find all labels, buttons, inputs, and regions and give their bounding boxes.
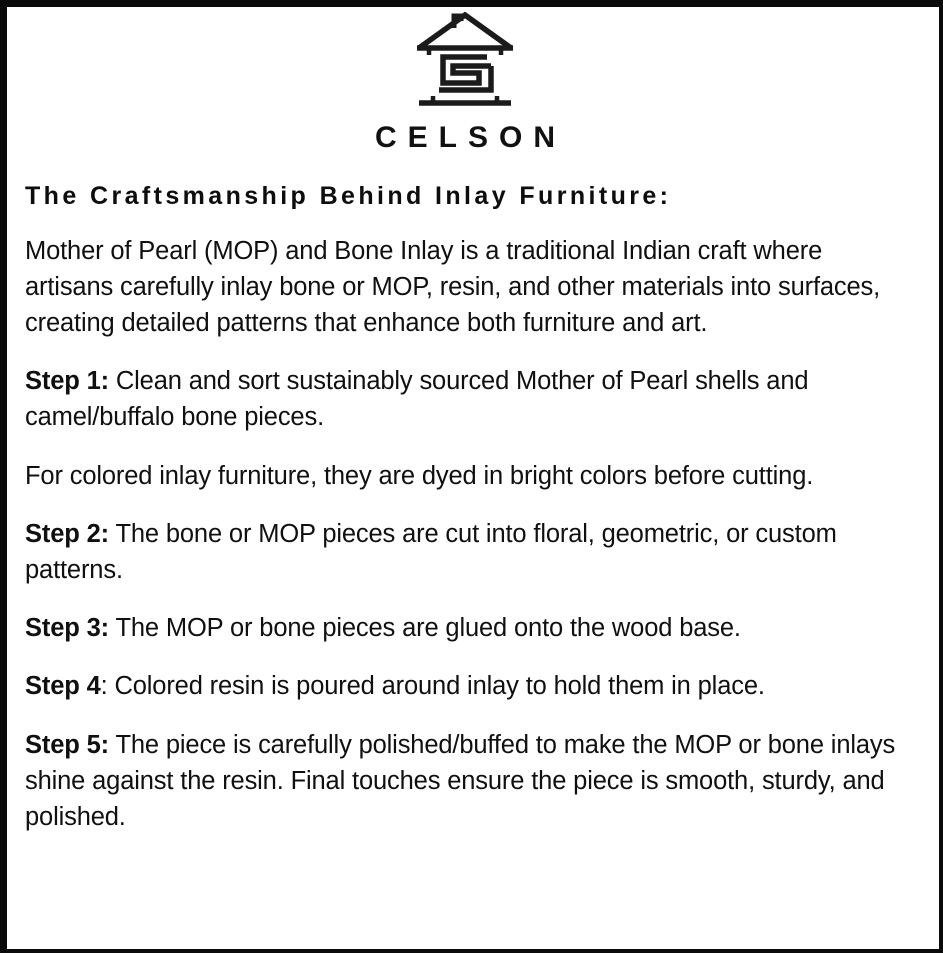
- paragraph-step-1: Step 1: Clean and sort sustainably sourc…: [25, 363, 913, 435]
- paragraph-text: The MOP or bone pieces are glued onto th…: [109, 614, 741, 642]
- paragraph-text: Colored resin is poured around inlay to …: [108, 672, 765, 700]
- brand-block: CELSON: [17, 7, 913, 153]
- paragraph-lead: Step 4: [25, 672, 101, 700]
- paragraph-lead: Step 1:: [25, 367, 109, 395]
- paragraph-text: For colored inlay furniture, they are dy…: [25, 462, 813, 490]
- paragraph-intro: Mother of Pearl (MOP) and Bone Inlay is …: [25, 233, 913, 342]
- house-with-monogram-icon: [413, 11, 517, 111]
- paragraph-text: Mother of Pearl (MOP) and Bone Inlay is …: [25, 237, 880, 337]
- paragraph-lead: Step 3:: [25, 614, 109, 642]
- poster-content: CELSON The Craftsmanship Behind Inlay Fu…: [7, 7, 939, 949]
- page-title: The Craftsmanship Behind Inlay Furniture…: [25, 183, 913, 211]
- brand-wordmark: CELSON: [17, 123, 913, 153]
- paragraph-text: The piece is carefully polished/buffed t…: [25, 731, 895, 831]
- paragraph-lead-separator: :: [101, 672, 108, 700]
- paragraph-step-5: Step 5: The piece is carefully polished/…: [25, 727, 913, 836]
- paragraph-step-4: Step 4: Colored resin is poured around i…: [25, 668, 913, 704]
- body-copy: Mother of Pearl (MOP) and Bone Inlay is …: [25, 211, 913, 836]
- poster-frame: CELSON The Craftsmanship Behind Inlay Fu…: [0, 0, 943, 953]
- paragraph-text: The bone or MOP pieces are cut into flor…: [25, 520, 837, 584]
- paragraph-step-3: Step 3: The MOP or bone pieces are glued…: [25, 610, 913, 646]
- paragraph-dye-note: For colored inlay furniture, they are dy…: [25, 458, 913, 494]
- paragraph-text: Clean and sort sustainably sourced Mothe…: [25, 367, 808, 431]
- paragraph-lead: Step 5:: [25, 731, 109, 759]
- paragraph-step-2: Step 2: The bone or MOP pieces are cut i…: [25, 516, 913, 588]
- paragraph-lead: Step 2:: [25, 520, 109, 548]
